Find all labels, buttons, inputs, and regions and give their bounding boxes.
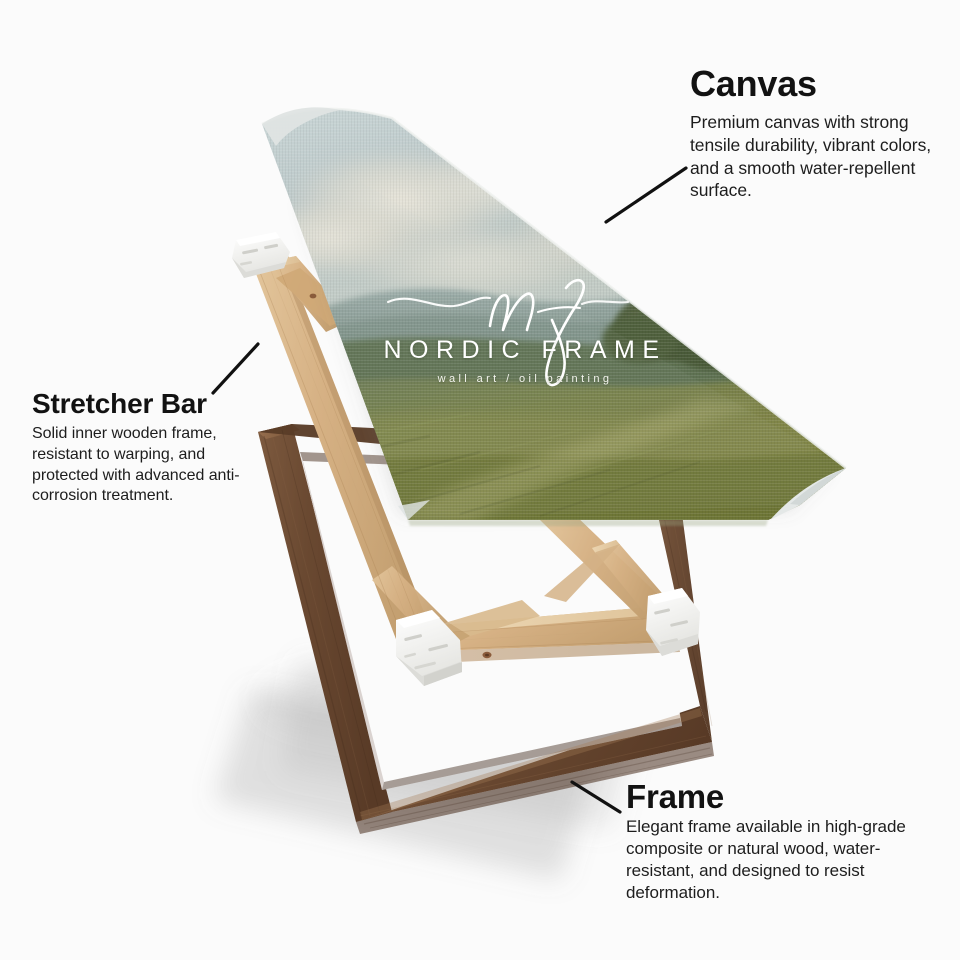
callout-canvas-body: Premium canvas with strong tensile durab… [690,111,938,202]
callout-frame-title: Frame [626,780,916,813]
callout-canvas: Canvas Premium canvas with strong tensil… [690,66,938,202]
leader-line-stretcher [213,344,258,393]
callout-stretcher-bar: Stretcher Bar Solid inner wooden frame, … [32,390,262,507]
callout-stretcher-bar-body: Solid inner wooden frame, resistant to w… [32,424,262,507]
callout-frame-body: Elegant frame available in high-grade co… [626,816,916,904]
callout-canvas-title: Canvas [690,66,938,102]
screw-icon [310,294,317,299]
infographic-stage: NORDIC FRAME wall art / oil painting Can… [0,0,960,960]
callout-frame: Frame Elegant frame available in high-gr… [626,780,916,904]
callout-stretcher-bar-title: Stretcher Bar [32,390,262,418]
leader-line-canvas [606,168,686,222]
